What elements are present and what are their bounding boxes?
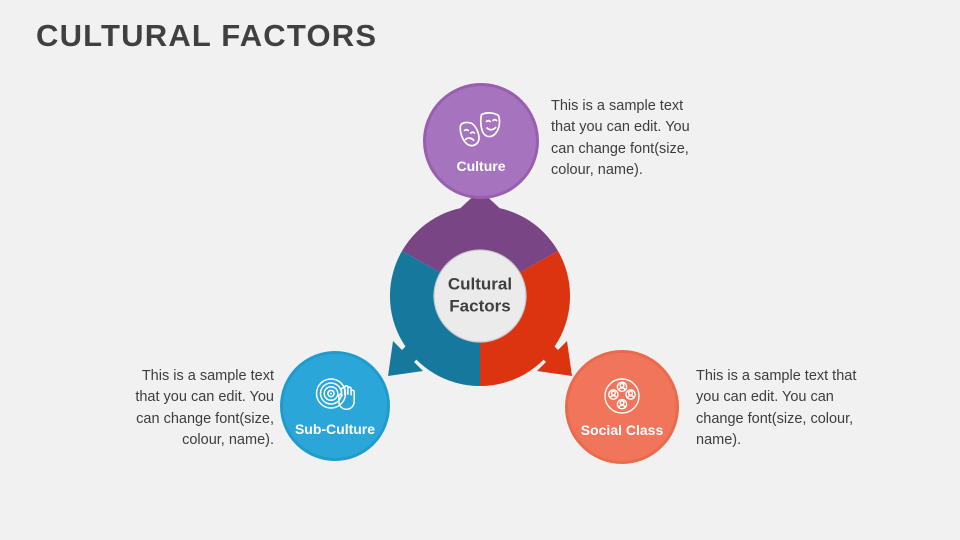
node-culture-label: Culture xyxy=(457,158,506,174)
node-socialclass-label: Social Class xyxy=(581,422,664,438)
page-title: CULTURAL FACTORS xyxy=(36,18,377,54)
node-subculture[interactable]: Sub-Culture xyxy=(280,351,390,461)
node-culture[interactable]: Culture xyxy=(423,83,539,199)
node-subculture-description: This is a sample text that you can edit.… xyxy=(118,366,274,451)
node-culture-description: This is a sample text that you can edit.… xyxy=(551,96,711,181)
node-subculture-label: Sub-Culture xyxy=(295,421,375,437)
hub-inner-circle xyxy=(434,250,526,342)
theater-masks-icon xyxy=(458,109,504,151)
hub-ring-graphic xyxy=(380,196,580,396)
vinyl-record-hand-icon xyxy=(314,376,356,414)
slide-canvas: CULTURAL FACTORS xyxy=(0,0,960,540)
node-socialclass-description: This is a sample text that you can edit.… xyxy=(696,366,858,451)
central-hub[interactable]: Cultural Factors xyxy=(380,196,580,396)
node-socialclass[interactable]: Social Class xyxy=(565,350,679,464)
people-group-circle-icon xyxy=(603,377,641,415)
